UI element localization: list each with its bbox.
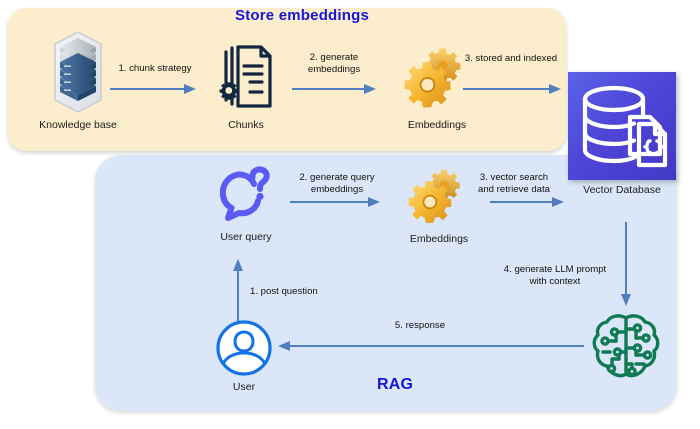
edge-label-generate-query-embeddings: 2. generate query embeddings (283, 172, 391, 195)
node-llm[interactable] (588, 312, 664, 384)
arrow-post-question (231, 258, 245, 324)
arrow-vector-search (490, 196, 566, 208)
node-label: User query (196, 231, 296, 243)
diagram-canvas: Store embeddings RAG (0, 0, 700, 429)
node-label: User (204, 381, 284, 393)
node-label: Embeddings (382, 119, 492, 131)
arrow-generate-embeddings (292, 83, 378, 95)
node-label: Chunks (196, 119, 296, 131)
edge-label-stored-indexed: 3. stored and indexed (452, 53, 570, 65)
speech-bubble-question-icon (215, 166, 277, 228)
node-user[interactable]: User (204, 318, 284, 393)
node-chunks[interactable]: Chunks (196, 44, 296, 131)
node-label: Knowledge base (22, 119, 134, 131)
rag-title: RAG (377, 376, 413, 394)
document-gear-icon (217, 44, 275, 116)
arrow-stored-indexed (463, 83, 563, 95)
circuit-brain-icon (590, 312, 662, 384)
server-stack-icon (47, 28, 109, 116)
edge-label-chunk-strategy: 1. chunk strategy (105, 63, 205, 75)
arrow-chunk-strategy (110, 83, 198, 95)
node-vector-database: Vector Database (570, 181, 674, 196)
edge-label-vector-search: 3. vector search and retrieve data (455, 172, 573, 195)
arrow-response (276, 340, 584, 352)
node-label: Vector Database (570, 184, 674, 196)
arrow-generate-llm-prompt (619, 222, 633, 308)
user-avatar-icon (214, 318, 274, 378)
edge-label-post-question: 1. post question (250, 286, 350, 298)
node-user-query[interactable]: User query (196, 166, 296, 243)
database-braces-icon (568, 72, 676, 180)
edge-label-generate-embeddings: 2. generate embeddings (288, 52, 380, 75)
edge-label-response: 5. response (370, 320, 470, 332)
edge-label-generate-llm-prompt: 4. generate LLM prompt with context (485, 264, 625, 287)
store-embeddings-title: Store embeddings (235, 7, 369, 24)
arrow-generate-query-embeddings (290, 196, 382, 208)
node-label: Embeddings (385, 233, 493, 245)
vector-database-tile[interactable] (568, 72, 676, 180)
node-knowledge-base[interactable]: Knowledge base (22, 28, 134, 131)
